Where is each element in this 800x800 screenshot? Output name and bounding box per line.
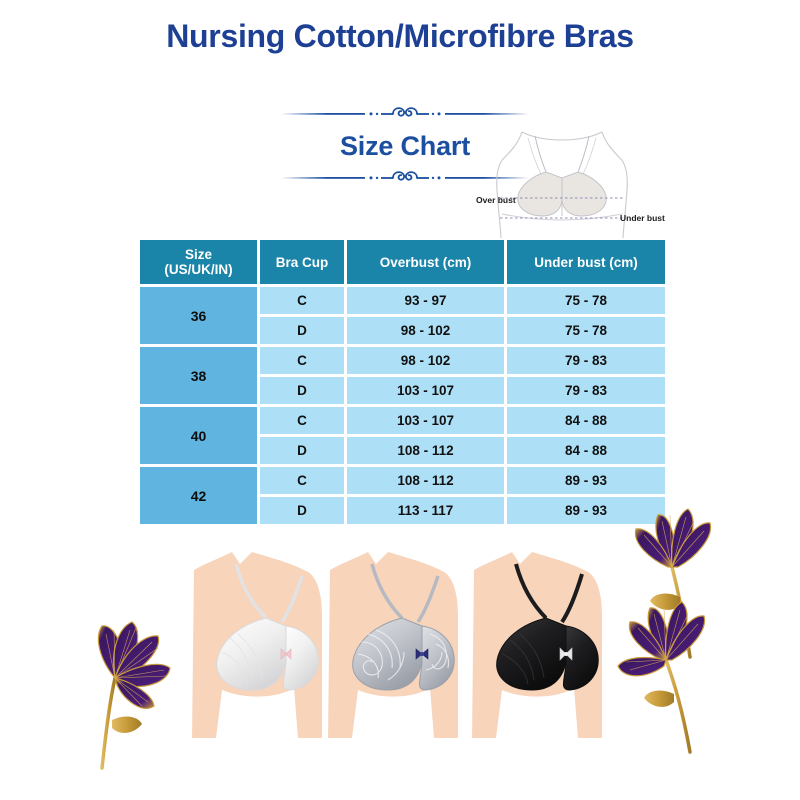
overbust-value: 108 - 112 [347,467,504,494]
bust-measurement-diagram-icon: Over bust Under bust [478,128,663,238]
cup-value: D [260,317,344,344]
table-row: 38 C 98 - 102 79 - 83 [140,347,665,374]
column-header-underbust: Under bust (cm) [507,240,665,284]
underbust-value: 75 - 78 [507,317,665,344]
table-row: 42 C 108 - 112 89 - 93 [140,467,665,494]
under-bust-label: Under bust [620,213,665,223]
overbust-value: 113 - 117 [347,497,504,524]
underbust-value: 79 - 83 [507,377,665,404]
ornamental-divider-top-icon [275,104,535,124]
overbust-value: 98 - 102 [347,347,504,374]
table-row: 36 C 93 - 97 75 - 78 [140,287,665,314]
column-header-size-line2: (US/UK/IN) [164,262,232,277]
cup-value: D [260,437,344,464]
underbust-value: 84 - 88 [507,437,665,464]
table-row: 40 C 103 - 107 84 - 88 [140,407,665,434]
overbust-value: 98 - 102 [347,317,504,344]
column-header-size: Size (US/UK/IN) [140,240,257,284]
overbust-value: 108 - 112 [347,437,504,464]
page-title: Nursing Cotton/Microfibre Bras [0,18,800,55]
cup-value: C [260,287,344,314]
underbust-value: 89 - 93 [507,467,665,494]
cup-value: C [260,407,344,434]
over-bust-label: Over bust [476,195,516,205]
underbust-value: 84 - 88 [507,407,665,434]
overbust-value: 93 - 97 [347,287,504,314]
cup-value: D [260,497,344,524]
size-value: 40 [140,407,257,464]
size-value: 42 [140,467,257,524]
size-chart-page: Nursing Cotton/Microfibre Bras [0,0,800,800]
size-value: 38 [140,347,257,404]
size-value: 36 [140,287,257,344]
column-header-bra-cup: Bra Cup [260,240,344,284]
cup-value: C [260,347,344,374]
purple-gold-flower-left-icon [62,590,192,770]
column-header-size-line1: Size [185,247,212,262]
size-chart-table: Size (US/UK/IN) Bra Cup Overbust (cm) Un… [137,237,668,527]
column-header-overbust: Overbust (cm) [347,240,504,284]
overbust-value: 103 - 107 [347,407,504,434]
cup-value: C [260,467,344,494]
underbust-value: 79 - 83 [507,347,665,374]
cup-value: D [260,377,344,404]
purple-gold-flower-right-bottom-icon [604,590,734,760]
underbust-value: 75 - 78 [507,287,665,314]
overbust-value: 103 - 107 [347,377,504,404]
table-header-row: Size (US/UK/IN) Bra Cup Overbust (cm) Un… [140,240,665,284]
